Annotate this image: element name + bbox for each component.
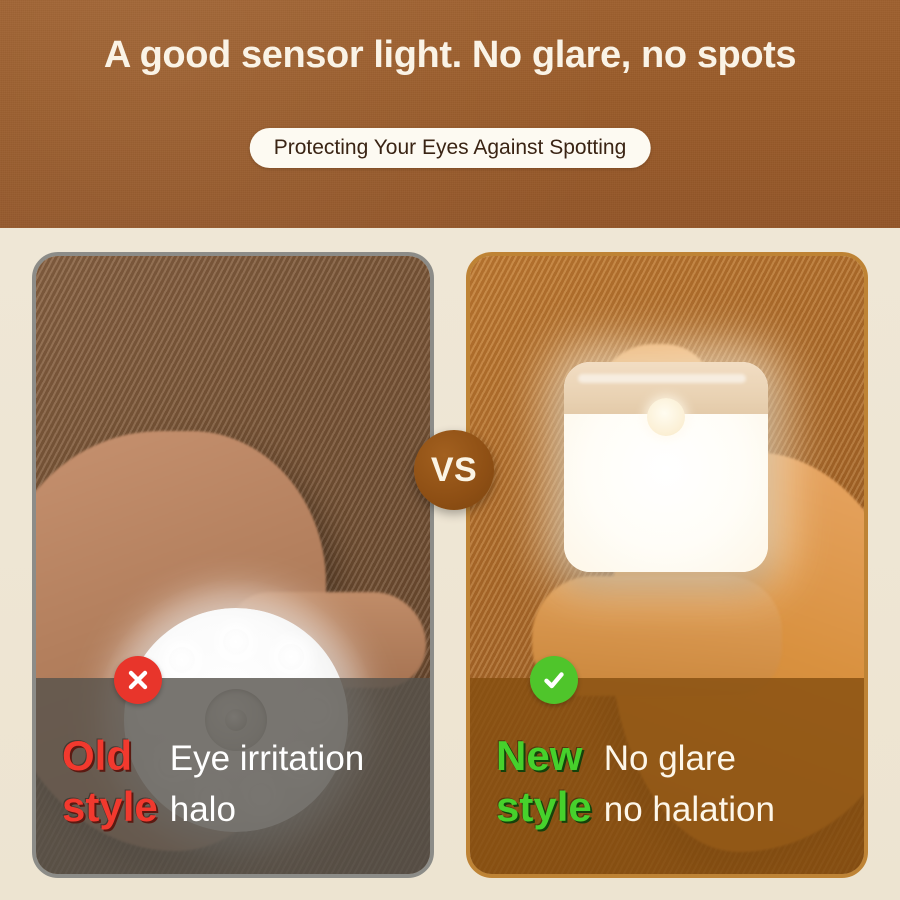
led-dot — [278, 644, 304, 670]
description-new-line1: No glare — [604, 734, 775, 785]
tag-old-line1: Old — [62, 730, 158, 781]
description-old-line1: Eye irritation — [170, 734, 365, 785]
cross-icon — [114, 656, 162, 704]
description-new: No glare no halation — [604, 730, 775, 836]
description-old-line2: halo — [170, 785, 365, 836]
square-night-light — [564, 362, 768, 572]
caption-text-new: New style No glare no halation — [496, 730, 775, 836]
vs-badge: VS — [414, 430, 494, 510]
comparison-panel-old: Old style Eye irritation halo — [32, 252, 434, 878]
check-icon — [530, 656, 578, 704]
caption-band-new: New style No glare no halation — [470, 678, 864, 874]
description-old: Eye irritation halo — [170, 730, 365, 836]
vs-label: VS — [431, 451, 477, 490]
comparison-panel-new: New style No glare no halation — [466, 252, 868, 878]
caption-band-old: Old style Eye irritation halo — [36, 678, 430, 874]
page-title: A good sensor light. No glare, no spots — [0, 34, 900, 77]
lamp-diffuser-panel — [564, 414, 768, 572]
caption-text-old: Old style Eye irritation halo — [62, 730, 364, 836]
sensor-notch-icon — [647, 398, 685, 436]
tag-new-style: New style — [496, 730, 592, 832]
product-comparison-poster: A good sensor light. No glare, no spots … — [0, 0, 900, 900]
tag-old-style: Old style — [62, 730, 158, 832]
led-dot — [223, 629, 249, 655]
tag-old-line2: style — [62, 781, 158, 832]
tag-new-line1: New — [496, 730, 592, 781]
tag-new-line2: style — [496, 781, 592, 832]
subtitle-pill: Protecting Your Eyes Against Spotting — [250, 128, 651, 168]
subtitle-text: Protecting Your Eyes Against Spotting — [274, 136, 627, 160]
description-new-line2: no halation — [604, 785, 775, 836]
led-dot — [169, 647, 195, 673]
